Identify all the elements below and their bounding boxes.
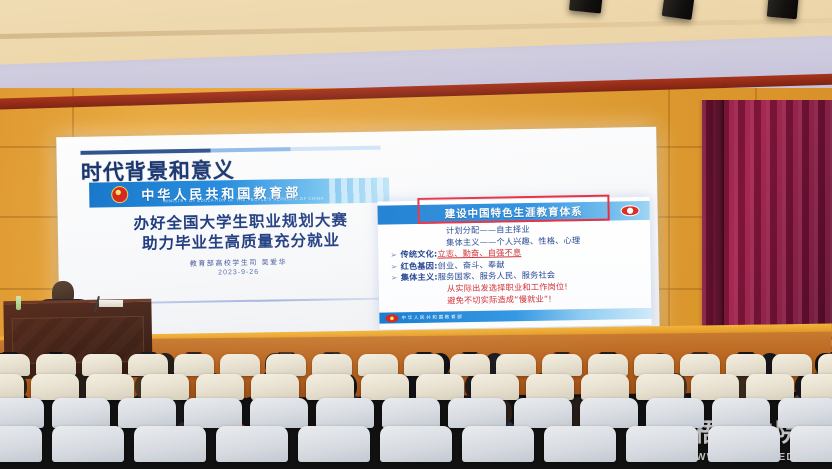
water-bottle [16, 296, 21, 310]
auditorium-seat [36, 354, 76, 376]
slide-right-line-text: 避免不切实际造成“慢就业”! [447, 293, 552, 305]
auditorium-seat [298, 426, 370, 462]
auditorium-seat [382, 398, 440, 428]
slide-right-line-text: 立志、勤奋、自强不息 [437, 247, 521, 258]
auditorium-seat [772, 354, 812, 376]
auditorium-seat [0, 398, 44, 428]
slide-right-line-text: 计划分配——自主择业 [446, 224, 530, 235]
auditorium-seat [588, 354, 628, 376]
auditorium-seat [680, 354, 720, 376]
auditorium-seat [31, 374, 79, 400]
auditorium-seat [542, 354, 582, 376]
auditorium-seat [0, 426, 42, 462]
auditorium-seat [462, 426, 534, 462]
slide-right: 建设中国特色生涯教育体系 计划分配——自主择业集体主义——个人兴趣、性格、心理➢… [377, 197, 651, 330]
slide-right-line-text: 集体主义——个人兴趣、性格、心理 [446, 235, 580, 247]
auditorium-seat [52, 426, 124, 462]
auditorium-seat [86, 374, 134, 400]
slide-right-line-label: 传统文化: [400, 249, 437, 260]
national-emblem-icon [111, 186, 128, 203]
bullet-arrow-icon: ➢ [390, 250, 397, 260]
auditorium-seat [358, 354, 398, 376]
auditorium-seat [450, 354, 490, 376]
auditorium-seat [82, 354, 122, 376]
slide-right-footer-text: 中华人民共和国教育部 [401, 314, 463, 321]
ministry-banner: 中华人民共和国教育部 MINISTRY OF EDUCATION OF THE … [89, 177, 389, 207]
auditorium-seat [636, 374, 684, 400]
ceiling-speaker-5 [767, 0, 800, 19]
auditorium-seat [746, 374, 794, 400]
footer-emblem-icon [385, 314, 398, 322]
auditorium-seat [316, 398, 374, 428]
bullet-arrow-icon: ➢ [390, 261, 397, 271]
auditorium-seat [581, 374, 629, 400]
auditorium-seat [184, 398, 242, 428]
auditorium-seat [361, 374, 409, 400]
auditorium-seat [196, 374, 244, 400]
auditorium-seat [118, 398, 176, 428]
auditorium-seat [52, 398, 110, 428]
auditorium-seat [514, 398, 572, 428]
slide-right-line-text: 服务国家、服务人民、服务社会 [438, 270, 556, 282]
auditorium-seat [712, 398, 770, 428]
wall-seam-v2 [668, 88, 670, 348]
slide-left-headline: 办好全国大学生职业规划大赛 助力毕业生高质量充分就业 [96, 210, 387, 255]
auditorium-seat [0, 354, 30, 376]
audience-seating [0, 352, 832, 469]
auditorium-seat [634, 354, 674, 376]
auditorium-seat [801, 374, 832, 400]
auditorium-seat [404, 354, 444, 376]
auditorium-seat [691, 374, 739, 400]
auditorium-seat [220, 354, 260, 376]
auditorium-seat [790, 426, 832, 462]
slide-right-line-text: 从实际出发选择职业和工作岗位! [447, 281, 568, 293]
auditorium-seat [726, 354, 766, 376]
slide-right-footer: 中华人民共和国教育部 [379, 308, 651, 324]
paper-stack [99, 300, 123, 307]
auditorium-seat [778, 398, 832, 428]
banner-stripe-decoration [329, 177, 389, 203]
auditorium-seat [496, 354, 536, 376]
auditorium-seat [216, 426, 288, 462]
slide-right-highlight-box [417, 195, 609, 224]
slide-right-line-label: 红色基因: [401, 260, 438, 271]
auditorium-seat [251, 374, 299, 400]
slide-right-badge-icon [620, 205, 639, 216]
auditorium-seat [646, 398, 704, 428]
auditorium-seat [312, 354, 352, 376]
auditorium-seat [580, 398, 638, 428]
slide-right-line-text: 创业、奋斗、奉献 [438, 259, 505, 270]
bullet-arrow-icon: ➢ [391, 273, 398, 283]
slide-right-body: 计划分配——自主择业集体主义——个人兴趣、性格、心理➢传统文化:立志、勤奋、自强… [384, 222, 647, 308]
auditorium-seat [544, 426, 616, 462]
curtain-shadow-edge [698, 100, 724, 350]
auditorium-seat [626, 426, 698, 462]
slide-right-line-label: 集体主义: [401, 272, 438, 283]
auditorium-seat [448, 398, 506, 428]
auditorium-seat [306, 374, 354, 400]
auditorium-seat [380, 426, 452, 462]
auditorium-seat [250, 398, 308, 428]
auditorium-seat [134, 426, 206, 462]
slide-left: 时代背景和意义 中华人民共和国教育部 MINISTRY OF EDUCATION… [66, 137, 399, 313]
auditorium-seat [416, 374, 464, 400]
auditorium-seat [174, 354, 214, 376]
auditorium-seat [266, 354, 306, 376]
auditorium-photo: 时代背景和意义 中华人民共和国教育部 MINISTRY OF EDUCATION… [0, 0, 832, 469]
auditorium-seat [471, 374, 519, 400]
auditorium-seat [708, 426, 780, 462]
auditorium-seat [818, 354, 832, 376]
auditorium-seat [128, 354, 168, 376]
auditorium-seat [141, 374, 189, 400]
auditorium-seat [0, 374, 24, 400]
auditorium-seat [526, 374, 574, 400]
